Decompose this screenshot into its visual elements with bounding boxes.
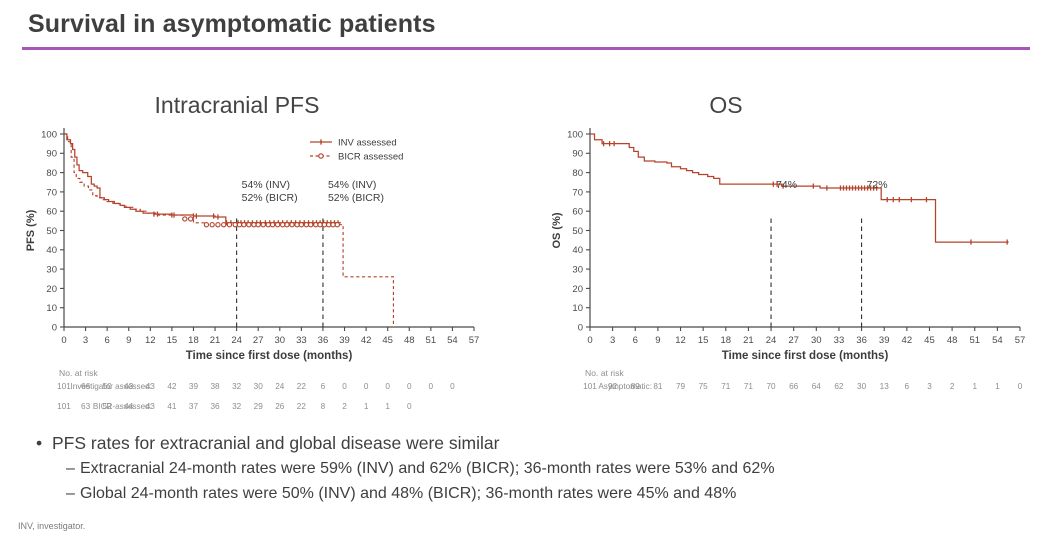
y-axis-title: PFS (%)	[25, 209, 37, 251]
risk-value: 0	[398, 382, 420, 391]
censor-mark	[270, 223, 274, 227]
risk-value: 13	[873, 382, 895, 391]
censor-mark	[281, 223, 285, 227]
y-tick-label: 10	[46, 303, 57, 314]
censor-mark	[276, 223, 280, 227]
censor-mark	[318, 223, 322, 227]
pfs-plot: 0102030405060708090100036912151821242730…	[12, 122, 522, 377]
risk-value: 2	[941, 382, 963, 391]
risk-value: 50	[96, 382, 118, 391]
risk-value: 0	[334, 382, 356, 391]
curve-bicr-assessed	[64, 134, 393, 327]
censor-mark	[295, 223, 299, 227]
x-axis-title: Time since first dose (months)	[186, 350, 353, 362]
risk-value: 64	[805, 382, 827, 391]
x-tick-label: 24	[231, 335, 242, 346]
x-tick-label: 0	[61, 335, 66, 346]
x-tick-label: 9	[126, 335, 131, 346]
censor-mark	[183, 217, 187, 221]
dash-glyph: –	[66, 481, 80, 506]
x-tick-label: 24	[766, 335, 777, 346]
x-tick-label: 39	[339, 335, 350, 346]
x-tick-label: 21	[743, 335, 754, 346]
censor-mark	[188, 217, 192, 221]
risk-value: 66	[783, 382, 805, 391]
x-tick-label: 36	[856, 335, 867, 346]
x-tick-label: 48	[404, 335, 415, 346]
y-tick-label: 60	[572, 207, 583, 218]
x-tick-label: 27	[253, 335, 264, 346]
y-tick-label: 10	[572, 303, 583, 314]
y-tick-label: 50	[572, 226, 583, 237]
risk-value: 1	[964, 382, 986, 391]
title-underline	[22, 47, 1030, 50]
x-tick-label: 54	[447, 335, 458, 346]
risk-table-header: No. at risk	[585, 368, 624, 378]
y-tick-label: 100	[567, 129, 583, 140]
page-title: Survival in asymptomatic patients	[28, 10, 436, 39]
x-tick-label: 18	[188, 335, 199, 346]
bullet-main: •PFS rates for extracranial and global d…	[36, 430, 1026, 456]
x-tick-label: 30	[811, 335, 822, 346]
risk-value: 75	[692, 382, 714, 391]
y-tick-label: 100	[41, 129, 57, 140]
os-panel: OS 0102030405060708090100036912151821242…	[528, 88, 1044, 377]
x-tick-label: 0	[587, 335, 592, 346]
y-tick-label: 30	[572, 265, 583, 276]
bullet-list: •PFS rates for extracranial and global d…	[36, 430, 1026, 506]
y-axis-title: OS (%)	[551, 212, 563, 248]
x-tick-label: 12	[675, 335, 686, 346]
y-tick-label: 60	[46, 207, 57, 218]
risk-value: 0	[398, 402, 420, 411]
risk-value: 24	[269, 382, 291, 391]
risk-value: 0	[355, 382, 377, 391]
y-tick-label: 80	[46, 168, 57, 179]
risk-value: 0	[420, 382, 442, 391]
risk-value: 101	[53, 402, 75, 411]
risk-value: 89	[624, 382, 646, 391]
risk-value: 71	[737, 382, 759, 391]
pfs-panel: Intracranial PFS 01020304050607080901000…	[12, 88, 522, 377]
risk-value: 81	[647, 382, 669, 391]
x-tick-label: 9	[655, 335, 660, 346]
risk-value: 1	[986, 382, 1008, 391]
legend-label-0: INV assessed	[338, 137, 397, 148]
annotation-label: 52% (BICR)	[242, 192, 298, 204]
risk-value: 22	[290, 402, 312, 411]
x-tick-label: 51	[426, 335, 437, 346]
x-tick-label: 39	[879, 335, 890, 346]
censor-mark	[204, 223, 208, 227]
x-tick-label: 54	[992, 335, 1003, 346]
bullet-sub-2-text: Global 24-month rates were 50% (INV) and…	[80, 485, 736, 502]
y-tick-label: 90	[572, 149, 583, 160]
x-tick-label: 57	[1015, 335, 1026, 346]
bullet-sub-1-text: Extracranial 24-month rates were 59% (IN…	[80, 460, 775, 477]
footnote: INV, investigator.	[18, 521, 85, 531]
curve-inv-assessed	[64, 134, 341, 223]
slide: Survival in asymptomatic patients Intrac…	[0, 0, 1052, 546]
risk-value: 79	[670, 382, 692, 391]
risk-value: 30	[851, 382, 873, 391]
y-tick-label: 30	[46, 265, 57, 276]
y-tick-label: 40	[46, 245, 57, 256]
legend-marker-1	[319, 154, 323, 158]
bullet-main-text: PFS rates for extracranial and global di…	[52, 433, 499, 453]
risk-value: 32	[226, 402, 248, 411]
x-tick-label: 6	[633, 335, 638, 346]
x-tick-label: 36	[318, 335, 329, 346]
os-panel-title: OS	[408, 88, 1044, 122]
x-tick-label: 51	[969, 335, 980, 346]
censor-mark	[227, 223, 231, 227]
risk-value: 26	[269, 402, 291, 411]
curve-asymptomatic	[590, 134, 1009, 242]
legend-label-1: BICR assessed	[338, 151, 403, 162]
censor-mark	[233, 223, 237, 227]
censor-mark	[237, 223, 241, 227]
risk-value: 32	[226, 382, 248, 391]
risk-table-header: No. at risk	[59, 368, 98, 378]
y-tick-label: 50	[46, 226, 57, 237]
censor-mark	[331, 223, 335, 227]
bullet-glyph: •	[36, 430, 52, 456]
x-tick-label: 15	[698, 335, 709, 346]
x-tick-label: 33	[834, 335, 845, 346]
bullet-sub-1: –Extracranial 24-month rates were 59% (I…	[36, 456, 1026, 481]
x-tick-label: 3	[83, 335, 88, 346]
x-tick-label: 45	[924, 335, 935, 346]
y-tick-label: 0	[52, 322, 57, 333]
censor-mark	[322, 223, 326, 227]
censor-mark	[335, 223, 339, 227]
risk-value: 71	[715, 382, 737, 391]
risk-value: 3	[918, 382, 940, 391]
censor-mark	[210, 223, 214, 227]
os-plot: 0102030405060708090100036912151821242730…	[528, 122, 1044, 377]
annotation-label: 74%	[776, 179, 797, 191]
risk-value: 43	[118, 382, 140, 391]
annotation-label: 52% (BICR)	[328, 192, 384, 204]
x-tick-label: 15	[167, 335, 178, 346]
x-tick-label: 27	[788, 335, 799, 346]
risk-value: 63	[75, 402, 97, 411]
y-tick-label: 80	[572, 168, 583, 179]
censor-mark	[247, 223, 251, 227]
y-tick-label: 70	[572, 187, 583, 198]
risk-value: 6	[896, 382, 918, 391]
risk-value: 101	[579, 382, 601, 391]
censor-mark	[290, 223, 294, 227]
risk-value: 1	[377, 402, 399, 411]
risk-value: 44	[118, 402, 140, 411]
censor-mark	[309, 223, 313, 227]
dash-glyph: –	[66, 456, 80, 481]
risk-value: 52	[96, 402, 118, 411]
risk-value: 36	[204, 402, 226, 411]
x-tick-label: 42	[361, 335, 372, 346]
annotation-label: 72%	[867, 179, 888, 191]
x-tick-label: 33	[296, 335, 307, 346]
risk-value: 30	[247, 382, 269, 391]
risk-value: 43	[139, 382, 161, 391]
risk-value: 42	[161, 382, 183, 391]
y-tick-label: 20	[46, 284, 57, 295]
censor-mark	[252, 223, 256, 227]
x-tick-label: 57	[469, 335, 480, 346]
censor-mark	[304, 223, 308, 227]
risk-value: 70	[760, 382, 782, 391]
x-tick-label: 42	[902, 335, 913, 346]
censor-mark	[256, 223, 260, 227]
risk-value: 22	[290, 382, 312, 391]
censor-mark	[222, 223, 226, 227]
risk-value: 0	[1009, 382, 1031, 391]
risk-value: 41	[161, 402, 183, 411]
risk-value: 8	[312, 402, 334, 411]
x-tick-label: 12	[145, 335, 156, 346]
x-tick-label: 21	[210, 335, 221, 346]
x-tick-label: 30	[275, 335, 286, 346]
risk-value: 6	[312, 382, 334, 391]
x-tick-label: 6	[105, 335, 110, 346]
y-tick-label: 70	[46, 187, 57, 198]
x-tick-label: 3	[610, 335, 615, 346]
x-axis-title: Time since first dose (months)	[722, 350, 889, 362]
censor-mark	[266, 223, 270, 227]
annotation-label: 54% (INV)	[242, 179, 290, 191]
y-tick-label: 90	[46, 149, 57, 160]
y-tick-label: 20	[572, 284, 583, 295]
risk-value: 0	[377, 382, 399, 391]
censor-mark	[299, 223, 303, 227]
censor-mark	[285, 223, 289, 227]
risk-value: 92	[602, 382, 624, 391]
y-tick-label: 40	[572, 245, 583, 256]
risk-value: 66	[75, 382, 97, 391]
risk-value: 2	[334, 402, 356, 411]
censor-mark	[314, 223, 318, 227]
risk-value: 37	[182, 402, 204, 411]
y-tick-label: 0	[578, 322, 583, 333]
risk-value: 62	[828, 382, 850, 391]
censor-mark	[242, 223, 246, 227]
censor-mark	[216, 223, 220, 227]
risk-value: 38	[204, 382, 226, 391]
annotation-label: 54% (INV)	[328, 179, 376, 191]
censor-mark	[261, 223, 265, 227]
risk-value: 101	[53, 382, 75, 391]
risk-value: 29	[247, 402, 269, 411]
x-tick-label: 45	[382, 335, 393, 346]
bullet-sub-2: –Global 24-month rates were 50% (INV) an…	[36, 481, 1026, 506]
x-tick-label: 48	[947, 335, 958, 346]
censor-mark	[327, 223, 331, 227]
risk-value: 39	[182, 382, 204, 391]
risk-value: 43	[139, 402, 161, 411]
x-tick-label: 18	[721, 335, 732, 346]
risk-value: 1	[355, 402, 377, 411]
risk-value: 0	[441, 382, 463, 391]
